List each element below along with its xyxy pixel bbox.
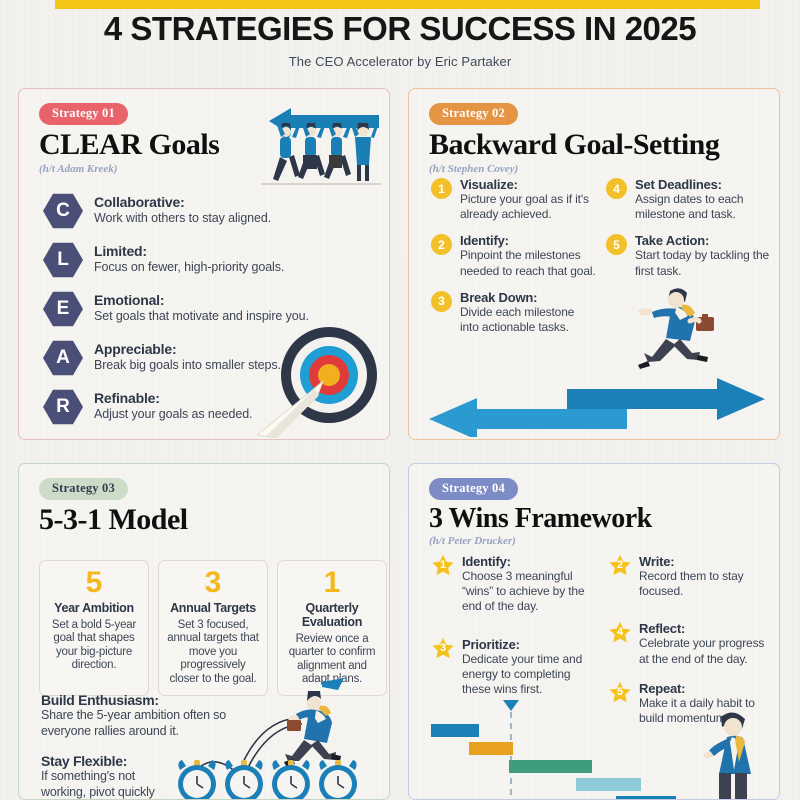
panel-2-title: Backward Goal-Setting — [429, 129, 779, 161]
step-desc: Pinpoint the milestones needed to reach … — [460, 248, 596, 278]
card-desc: Set 3 focused, annual targets that move … — [165, 619, 261, 687]
clear-item: R Refinable: Adjust your goals as needed… — [43, 389, 363, 425]
step-term: Set Deadlines: — [635, 177, 771, 192]
tip-item: Build Enthusiasm: Share the 5-year ambit… — [41, 692, 246, 739]
star-number: 5 — [617, 686, 623, 698]
backward-steps-left: 1 Visualize: Picture your goal as if it'… — [431, 177, 596, 346]
clear-items-list: C Collaborative: Work with others to sta… — [43, 193, 363, 438]
step-desc: Make it a daily habit to build momentum. — [639, 696, 775, 726]
tip-desc: If something's not working, pivot quickl… — [41, 769, 169, 800]
number-badge-icon: 5 — [606, 234, 627, 255]
clear-desc: Work with others to stay aligned. — [94, 211, 271, 225]
step-term: Break Down: — [460, 290, 596, 305]
clear-term: Refinable: — [94, 390, 252, 406]
card-number: 3 — [165, 568, 261, 598]
badge-strategy-04: Strategy 04 — [429, 478, 518, 500]
star-number: 3 — [440, 642, 446, 654]
number-badge-icon: 1 — [431, 178, 452, 199]
step-desc: Picture your goal as if it's already ach… — [460, 192, 596, 222]
model-card: 3 Annual Targets Set 3 focused, annual t… — [158, 560, 268, 696]
card-number: 5 — [46, 568, 142, 598]
clear-term: Emotional: — [94, 292, 309, 308]
panel-3-tips: Build Enthusiasm: Share the 5-year ambit… — [41, 692, 246, 800]
step-desc: Assign dates to each milestone and task. — [635, 192, 771, 222]
hex-icon-wrap: C — [43, 193, 85, 229]
panel-4-head: Strategy 04 3 Wins Framework (h/t Peter … — [409, 464, 779, 547]
step-desc: Divide each milestone into actionable ta… — [460, 305, 596, 335]
accent-bar — [55, 0, 760, 9]
hexagon-letter-icon: C — [43, 193, 83, 229]
panel-3-head: Strategy 03 5-3-1 Model — [19, 464, 389, 536]
hexagon-letter-icon: R — [43, 389, 83, 425]
star-badge-icon: 1 — [431, 554, 455, 577]
star-badge-icon: 5 — [608, 681, 632, 704]
hex-icon-wrap: A — [43, 340, 85, 376]
step-term: Write: — [639, 554, 775, 569]
step-desc: Choose 3 meaningful “wins” to achieve by… — [462, 569, 598, 615]
clear-desc: Focus on fewer, high-priority goals. — [94, 260, 284, 274]
number-badge-icon: 2 — [431, 234, 452, 255]
strategy-panel-02: Strategy 02 Backward Goal-Setting (h/t S… — [408, 88, 780, 440]
model-card: 5 Year Ambition Set a bold 5-year goal t… — [39, 560, 149, 696]
wins-steps-right: 2 Write: Record them to stay focused. 4 … — [608, 554, 775, 738]
star-badge-icon: 4 — [608, 621, 632, 644]
card-label: Year Ambition — [46, 602, 142, 616]
step-desc: Record them to stay focused. — [639, 569, 775, 599]
step-desc: Dedicate your time and energy to complet… — [462, 652, 598, 698]
clear-desc: Break big goals into smaller steps. — [94, 358, 281, 372]
card-number: 1 — [284, 568, 380, 598]
page-subtitle: The CEO Accelerator by Eric Partaker — [0, 54, 800, 69]
numbered-item: 1 Visualize: Picture your goal as if it'… — [431, 177, 596, 222]
badge-strategy-03: Strategy 03 — [39, 478, 128, 500]
panel-4-title: 3 Wins Framework — [429, 504, 779, 533]
panel-2-credit: (h/t Stephen Covey) — [429, 163, 779, 175]
numbered-item: 4 Set Deadlines: Assign dates to each mi… — [606, 177, 771, 222]
panel-1-credit: (h/t Adam Kreek) — [39, 163, 389, 175]
card-desc: Review once a quarter to confirm alignme… — [284, 633, 380, 687]
card-desc: Set a bold 5-year goal that shapes your … — [46, 619, 142, 673]
header: 4 STRATEGIES FOR SUCCESS IN 2025 The CEO… — [0, 11, 800, 69]
panel-2-head: Strategy 02 Backward Goal-Setting (h/t S… — [409, 89, 779, 175]
strategy-panel-04: Strategy 04 3 Wins Framework (h/t Peter … — [408, 463, 780, 800]
clear-desc: Adjust your goals as needed. — [94, 407, 252, 421]
card-label: Quarterly Evaluation — [284, 602, 380, 630]
star-number: 1 — [440, 559, 446, 571]
step-desc: Celebrate your progress at the end of th… — [639, 636, 775, 666]
numbered-item: 5 Take Action: Start today by tackling t… — [606, 233, 771, 278]
hex-icon-wrap: L — [43, 242, 85, 278]
star-item: 5 Repeat: Make it a daily habit to build… — [608, 681, 775, 726]
number-badge-icon: 4 — [606, 178, 627, 199]
step-term: Identify: — [460, 233, 596, 248]
hex-icon-wrap: R — [43, 389, 85, 425]
clear-term: Limited: — [94, 243, 284, 259]
star-item: 1 Identify: Choose 3 meaningful “wins” t… — [431, 554, 598, 615]
backward-steps: 1 Visualize: Picture your goal as if it'… — [431, 177, 771, 346]
step-term: Prioritize: — [462, 637, 598, 652]
step-term: Identify: — [462, 554, 598, 569]
clear-term: Collaborative: — [94, 194, 271, 210]
hex-icon-wrap: E — [43, 291, 85, 327]
star-item: 2 Write: Record them to stay focused. — [608, 554, 775, 599]
backward-steps-right: 4 Set Deadlines: Assign dates to each mi… — [606, 177, 771, 346]
star-number: 4 — [617, 626, 623, 638]
model-card: 1 Quarterly Evaluation Review once a qua… — [277, 560, 387, 696]
tip-term: Build Enthusiasm: — [41, 692, 246, 708]
tip-item: Stay Flexible: If something's not workin… — [41, 753, 169, 800]
clear-item: L Limited: Focus on fewer, high-priority… — [43, 242, 363, 278]
clear-term: Appreciable: — [94, 341, 281, 357]
hexagon-letter-icon: L — [43, 242, 83, 278]
hexagon-letter-icon: A — [43, 340, 83, 376]
panel-4-credit: (h/t Peter Drucker) — [429, 535, 779, 547]
badge-strategy-01: Strategy 01 — [39, 103, 128, 125]
strategy-panel-03: Strategy 03 5-3-1 Model 5 Year Ambition … — [18, 463, 390, 800]
panel-3-title: 5-3-1 Model — [39, 504, 389, 536]
five-three-one-cards: 5 Year Ambition Set a bold 5-year goal t… — [39, 560, 387, 696]
clear-item: E Emotional: Set goals that motivate and… — [43, 291, 363, 327]
wins-steps: 1 Identify: Choose 3 meaningful “wins” t… — [431, 554, 775, 738]
numbered-item: 2 Identify: Pinpoint the milestones need… — [431, 233, 596, 278]
panel-1-title: CLEAR Goals — [39, 129, 389, 161]
number-badge-icon: 3 — [431, 291, 452, 312]
step-term: Repeat: — [639, 681, 775, 696]
step-term: Visualize: — [460, 177, 596, 192]
tip-term: Stay Flexible: — [41, 753, 169, 769]
star-number: 2 — [617, 559, 623, 571]
clear-item: C Collaborative: Work with others to sta… — [43, 193, 363, 229]
star-item: 4 Reflect: Celebrate your progress at th… — [608, 621, 775, 666]
clear-item: A Appreciable: Break big goals into smal… — [43, 340, 363, 376]
step-desc: Start today by tackling the first task. — [635, 248, 771, 278]
star-badge-icon: 3 — [431, 637, 455, 660]
step-term: Take Action: — [635, 233, 771, 248]
step-term: Reflect: — [639, 621, 775, 636]
numbered-item: 3 Break Down: Divide each milestone into… — [431, 290, 596, 335]
wins-steps-left: 1 Identify: Choose 3 meaningful “wins” t… — [431, 554, 598, 738]
star-badge-icon: 2 — [608, 554, 632, 577]
card-label: Annual Targets — [165, 602, 261, 616]
hexagon-letter-icon: E — [43, 291, 83, 327]
strategy-panel-01: Strategy 01 CLEAR Goals (h/t Adam Kreek) — [18, 88, 390, 440]
badge-strategy-02: Strategy 02 — [429, 103, 518, 125]
panel-1-head: Strategy 01 CLEAR Goals (h/t Adam Kreek) — [19, 89, 389, 175]
tip-desc: Share the 5-year ambition often so every… — [41, 708, 246, 739]
clear-desc: Set goals that motivate and inspire you. — [94, 309, 309, 323]
page-title: 4 STRATEGIES FOR SUCCESS IN 2025 — [0, 11, 800, 47]
star-item: 3 Prioritize: Dedicate your time and ene… — [431, 637, 598, 698]
two-opposing-block-arrows — [427, 375, 767, 437]
